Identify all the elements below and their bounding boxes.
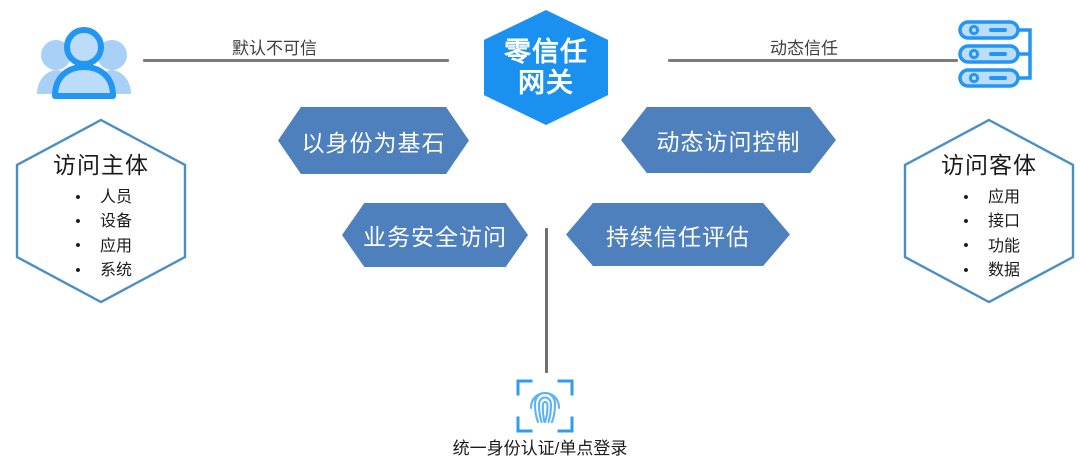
subject-title: 访问主体: [53, 146, 149, 180]
pillar-hexagon-dynamic-access[interactable]: 动态访问控制: [621, 107, 836, 173]
pillar-label-continuous-trust: 持续信任评估: [606, 218, 750, 252]
list-item: • 功能: [958, 235, 1020, 259]
connector-label-right: 动态信任: [770, 34, 838, 59]
bottom-caption: 统一身份认证/单点登录: [0, 434, 1080, 459]
list-item: • 设备: [70, 210, 132, 234]
subject-list: • 人员 • 设备 • 应用 • 系统: [70, 186, 132, 283]
list-item: • 接口: [958, 210, 1020, 234]
pillar-hexagon-identity-foundation[interactable]: 以身份为基石: [278, 107, 469, 174]
list-item: • 数据: [958, 259, 1020, 283]
bullet-icon: •: [958, 235, 974, 258]
pillar-label-dynamic-access: 动态访问控制: [657, 123, 801, 157]
pillar-label-identity-foundation: 以身份为基石: [302, 124, 446, 158]
connector-line-right: [668, 59, 958, 62]
subject-hexagon[interactable]: 访问主体 • 人员 • 设备 • 应用 • 系统: [15, 118, 187, 304]
server-stack-icon: [957, 18, 1037, 94]
center-hexagon-zero-trust-gateway[interactable]: 零信任 网关: [484, 10, 608, 125]
bullet-icon: •: [958, 260, 974, 283]
bullet-icon: •: [958, 211, 974, 234]
center-hexagon-line2: 网关: [518, 68, 574, 99]
connector-label-left: 默认不可信: [232, 34, 317, 59]
bullet-icon: •: [70, 187, 86, 210]
pillar-hexagon-continuous-trust[interactable]: 持续信任评估: [566, 203, 790, 266]
object-title: 访问客体: [941, 146, 1037, 180]
object-hexagon[interactable]: 访问客体 • 应用 • 接口 • 功能 • 数据: [903, 118, 1075, 304]
pillar-hexagon-business-secure[interactable]: 业务安全访问: [342, 203, 528, 267]
list-item: • 人员: [70, 186, 132, 210]
list-item: • 应用: [958, 186, 1020, 210]
connector-line-bottom: [545, 228, 548, 373]
connector-line-left: [143, 59, 449, 62]
center-hexagon-line1: 零信任: [504, 37, 588, 68]
bullet-icon: •: [70, 211, 86, 234]
diagram-canvas: 默认不可信 动态信任: [0, 0, 1080, 468]
fingerprint-scan-icon: [515, 378, 575, 434]
bullet-icon: •: [70, 235, 86, 258]
bullet-icon: •: [70, 260, 86, 283]
list-item: • 系统: [70, 259, 132, 283]
pillar-label-business-secure: 业务安全访问: [363, 218, 507, 252]
list-item: • 应用: [70, 235, 132, 259]
bullet-icon: •: [958, 187, 974, 210]
users-group-icon: [34, 22, 134, 106]
object-list: • 应用 • 接口 • 功能 • 数据: [958, 186, 1020, 283]
